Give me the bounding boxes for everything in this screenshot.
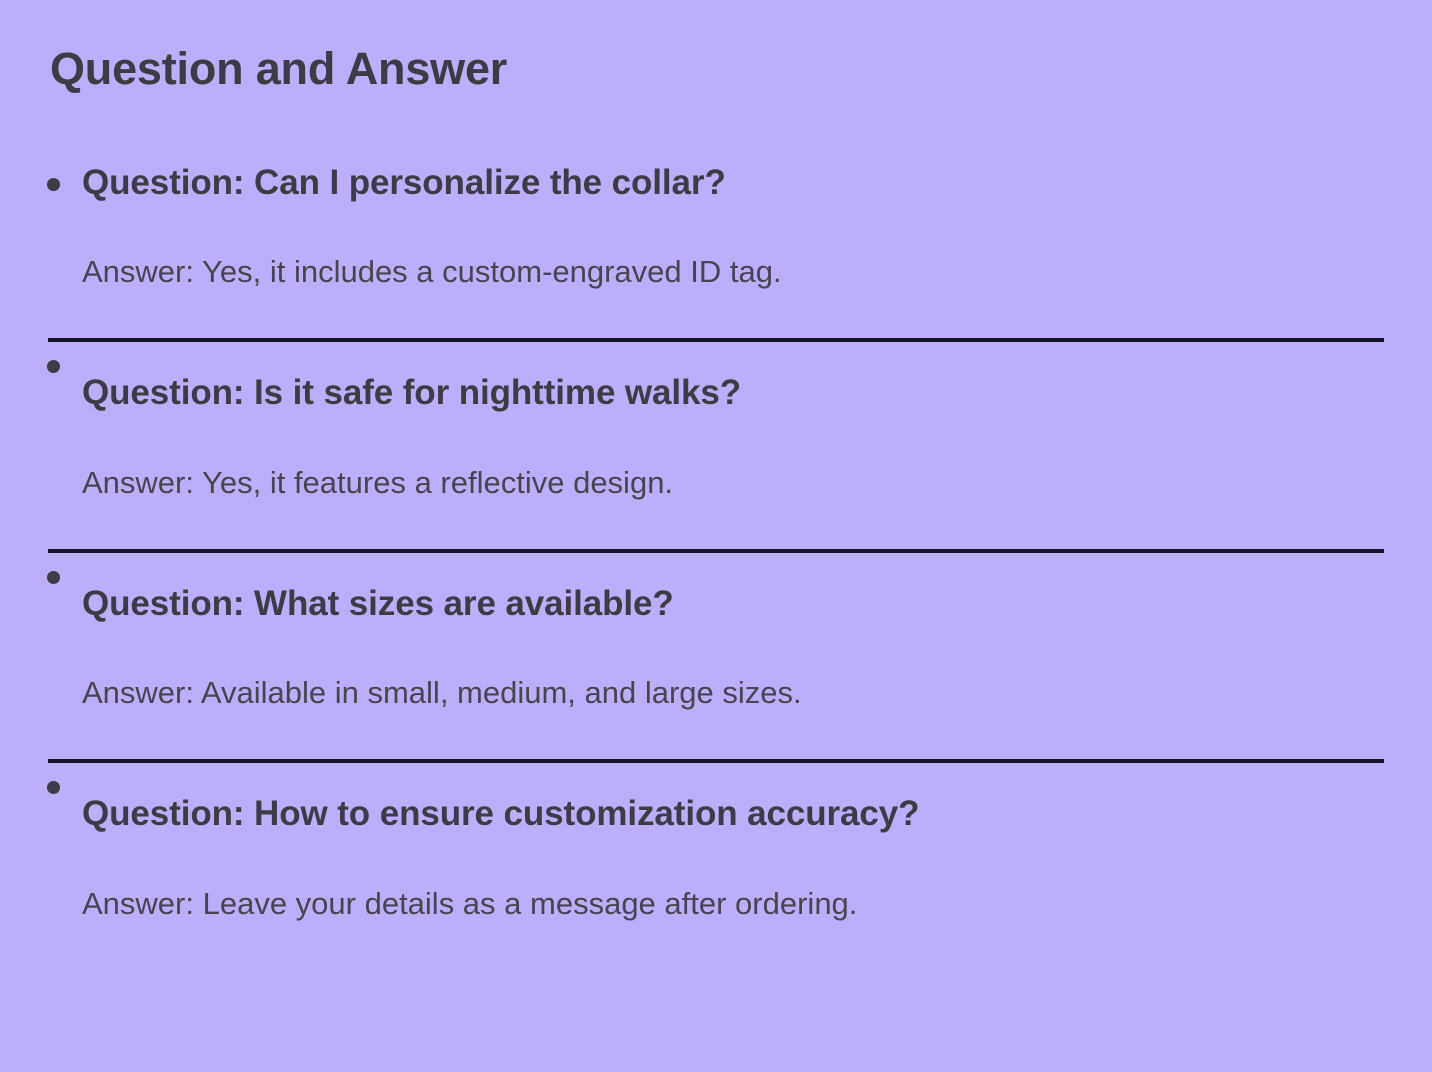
page-title: Question and Answer	[50, 42, 507, 96]
bullet-dot-icon	[47, 781, 60, 794]
bullet-dot-icon	[47, 571, 60, 584]
qa-item: Question: How to ensure customization ac…	[0, 763, 1432, 923]
qa-answer-text: Answer: Yes, it features a reflective de…	[0, 463, 1432, 503]
bullet-dot-icon	[47, 178, 60, 191]
qa-list: Question: Can I personalize the collar? …	[0, 160, 1432, 924]
qa-answer-text: Answer: Yes, it includes a custom-engrav…	[0, 252, 1432, 292]
qa-answer-text: Answer: Available in small, medium, and …	[0, 673, 1432, 713]
qa-page: Question and Answer Question: Can I pers…	[0, 0, 1432, 1072]
qa-question-text: Question: What sizes are available?	[82, 581, 1402, 627]
qa-question-row: Question: Is it safe for nighttime walks…	[0, 342, 1432, 416]
qa-question-row: Question: Can I personalize the collar?	[0, 160, 1432, 206]
qa-question-text: Question: How to ensure customization ac…	[82, 791, 1402, 837]
qa-item: Question: Is it safe for nighttime walks…	[0, 342, 1432, 552]
qa-question-text: Question: Is it safe for nighttime walks…	[82, 370, 1402, 416]
qa-question-text: Question: Can I personalize the collar?	[82, 160, 1402, 206]
qa-question-row: Question: What sizes are available?	[0, 553, 1432, 627]
qa-question-row: Question: How to ensure customization ac…	[0, 763, 1432, 837]
qa-item: Question: What sizes are available? Answ…	[0, 553, 1432, 763]
qa-answer-text: Answer: Leave your details as a message …	[0, 884, 1432, 924]
qa-item: Question: Can I personalize the collar? …	[0, 160, 1432, 342]
bullet-dot-icon	[47, 360, 60, 373]
